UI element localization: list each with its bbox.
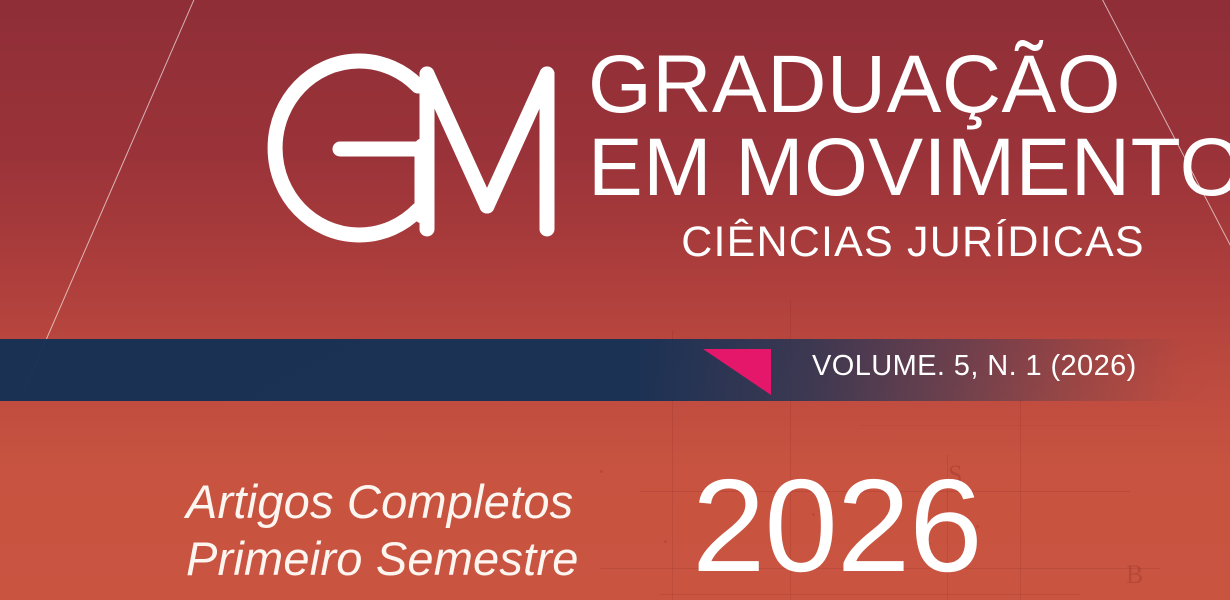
masthead: GRADUAÇÃO EM MOVIMENTO CIÊNCIAS JURÍDICA… — [588, 46, 1198, 264]
watermark-hline — [860, 425, 1160, 426]
watermark-label-b: B — [1126, 562, 1143, 588]
watermark-vline — [1020, 400, 1021, 600]
journal-cover: S B — [0, 0, 1230, 600]
issue-year: 2026 — [692, 460, 982, 592]
volume-label: VOLUME. 5, N. 1 (2026) — [812, 350, 1137, 383]
gm-monogram-logo — [222, 34, 572, 259]
issue-description: Artigos Completos Primeiro Semestre — [186, 473, 579, 588]
issue-line-1: Artigos Completos — [186, 473, 579, 530]
masthead-line-1: GRADUAÇÃO — [588, 46, 1198, 125]
masthead-line-2: EM MOVIMENTO — [588, 129, 1198, 208]
watermark-dot — [664, 540, 667, 543]
issue-line-2: Primeiro Semestre — [186, 530, 579, 587]
masthead-subtitle: CIÊNCIAS JURÍDICAS — [588, 221, 1198, 264]
watermark-dot — [600, 470, 603, 473]
diagonal-line-left — [24, 0, 197, 388]
